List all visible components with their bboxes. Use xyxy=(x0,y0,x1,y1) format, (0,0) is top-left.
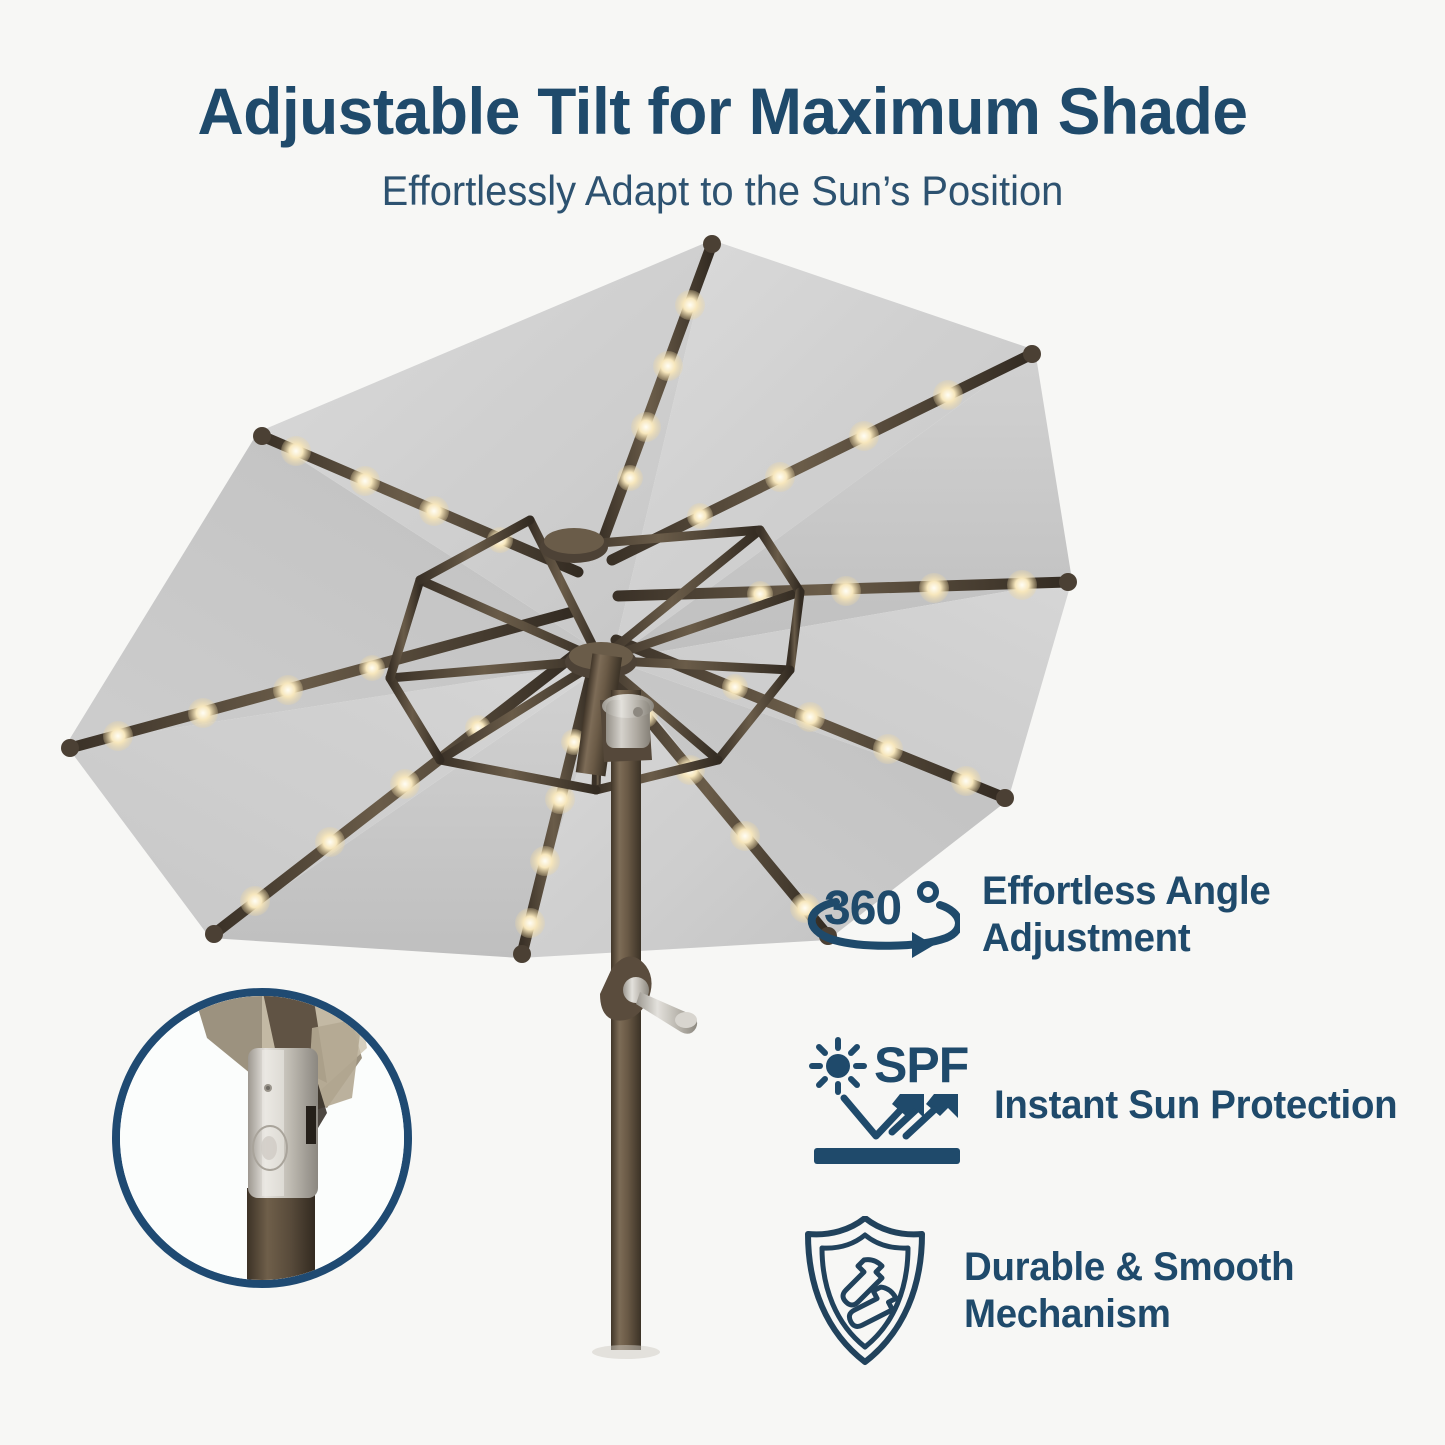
svg-text:360: 360 xyxy=(824,882,901,935)
tilt-mechanism-closeup-circle xyxy=(112,988,412,1288)
shield-wrench-icon xyxy=(800,1216,930,1366)
spf-sun-protection-icon: SPF xyxy=(800,1036,970,1176)
infographic-canvas: Adjustable Tilt for Maximum Shade Effort… xyxy=(0,0,1445,1445)
feature-item-angle-adjustment: 360 Effortless Angle Adjustment xyxy=(800,868,1282,962)
feature-item-sun-protection: SPF Instant Sun Protection xyxy=(800,1036,1414,1176)
feature-label-angle-adjustment: Effortless Angle Adjustment xyxy=(982,868,1270,962)
feature-label-durable-mechanism: Durable & Smooth Mechanism xyxy=(964,1244,1294,1338)
feature-label-sun-protection: Instant Sun Protection xyxy=(994,1082,1397,1129)
closeup-illustration xyxy=(112,988,412,1288)
feature-item-durable-mechanism: Durable & Smooth Mechanism xyxy=(800,1216,1308,1366)
svg-text:SPF: SPF xyxy=(874,1037,968,1093)
360-degree-rotation-icon: 360 xyxy=(800,872,960,958)
